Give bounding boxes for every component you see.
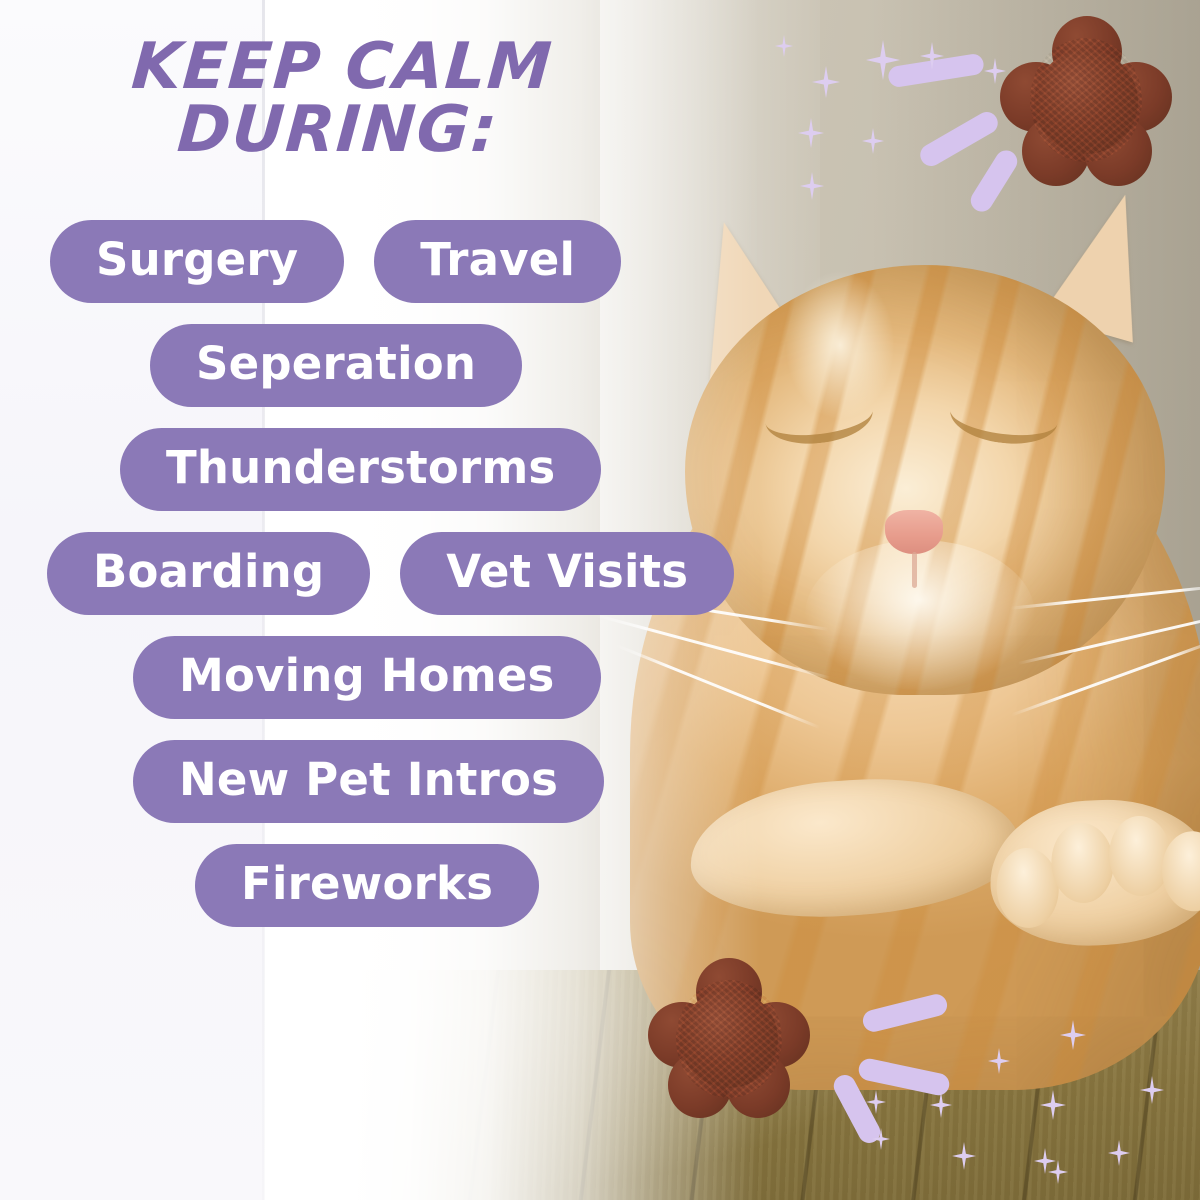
headline-line-2: DURING: (56, 99, 620, 162)
pill-vet-visits[interactable]: Vet Visits (400, 532, 734, 615)
pill-seperation[interactable]: Seperation (150, 324, 522, 407)
pill-moving-homes[interactable]: Moving Homes (133, 636, 601, 719)
pill-fireworks[interactable]: Fireworks (195, 844, 539, 927)
pill-thunderstorms[interactable]: Thunderstorms (120, 428, 601, 511)
pill-row: New Pet Intros (0, 740, 700, 823)
trigger-pill-list: Surgery Travel Seperation Thunderstorms … (0, 220, 700, 948)
pill-surgery[interactable]: Surgery (50, 220, 344, 303)
treat-texture (1030, 38, 1142, 162)
pill-boarding[interactable]: Boarding (47, 532, 370, 615)
poster-canvas: KEEP CALM DURING: Surgery Travel Seperat… (0, 0, 1200, 1200)
treat-bottom-left (648, 958, 808, 1118)
cat-toe (1049, 821, 1115, 904)
pill-row: Moving Homes (0, 636, 700, 719)
pill-row: Thunderstorms (0, 428, 700, 511)
page-title: KEEP CALM DURING: (56, 36, 625, 161)
pill-row: Fireworks (0, 844, 700, 927)
cat-philtrum (912, 552, 917, 588)
pill-row: Seperation (0, 324, 700, 407)
pill-travel[interactable]: Travel (374, 220, 621, 303)
pill-row: Surgery Travel (0, 220, 700, 303)
cat-muzzle (805, 540, 1035, 690)
treat-top-right (1000, 16, 1170, 186)
treat-texture (676, 980, 782, 1098)
pill-row: Boarding Vet Visits (0, 532, 700, 615)
pill-new-pet-intros[interactable]: New Pet Intros (133, 740, 604, 823)
